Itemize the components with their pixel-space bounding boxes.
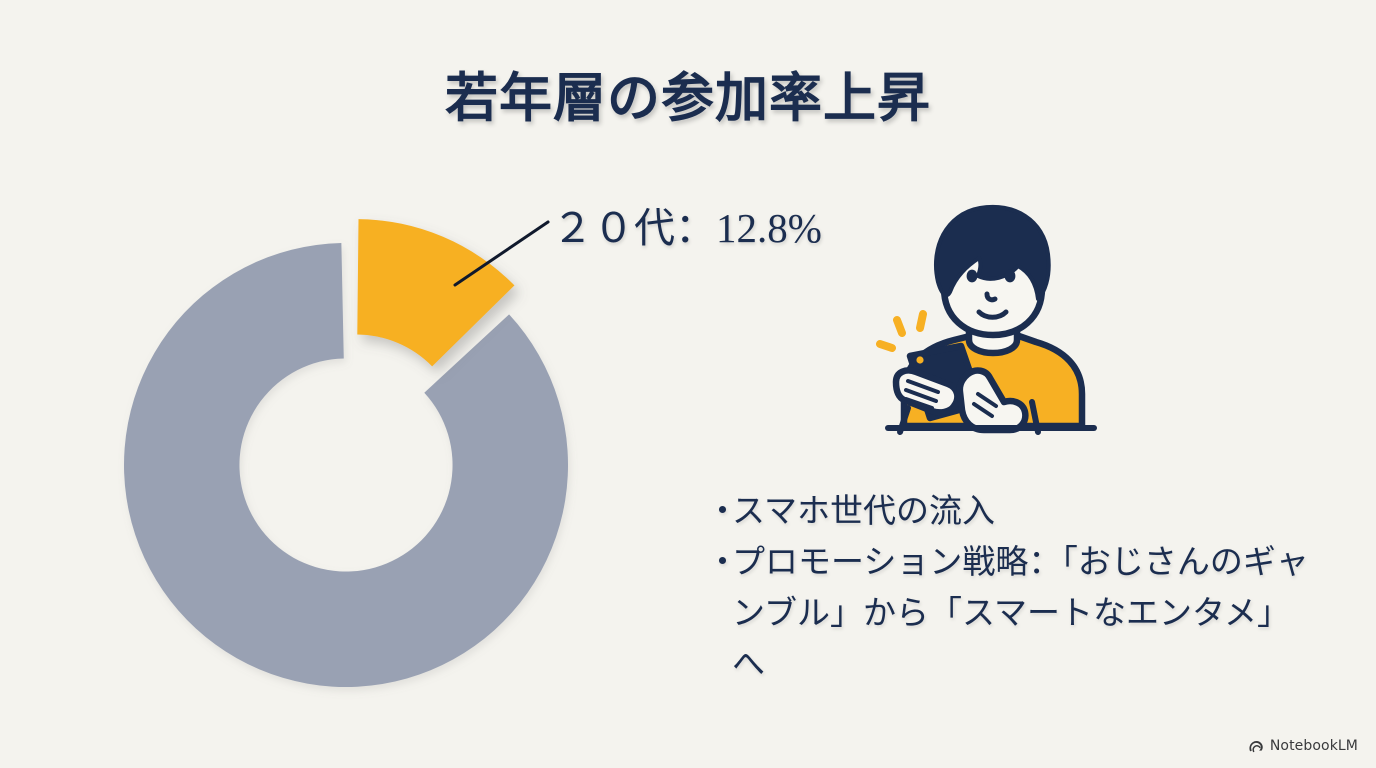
list-item: ・ プロモーション戦略：「おじさんのギャンブル」から「スマートなエンタメ」へ (706, 538, 1316, 691)
watermark-label: NotebookLM (1270, 738, 1358, 754)
phone-camera-icon (916, 356, 923, 363)
person-using-smartphone-illustration (868, 196, 1118, 446)
left-eye-icon (967, 270, 978, 283)
bullet-marker: ・ (706, 487, 732, 538)
bullet-text: スマホ世代の流入 (732, 487, 1316, 538)
bullet-text: プロモーション戦略：「おじさんのギャンブル」から「スマートなエンタメ」へ (732, 538, 1316, 691)
donut-slice-other (124, 243, 568, 687)
slide-root: 若年層の参加率上昇 ２０代：12.8% (0, 0, 1376, 768)
bullet-marker: ・ (706, 538, 732, 589)
notebooklm-watermark: NotebookLM (1248, 738, 1358, 754)
sparkle-icon (880, 314, 923, 348)
person-illustration-svg (868, 196, 1118, 446)
bullet-list: ・ スマホ世代の流入 ・ プロモーション戦略：「おじさんのギャンブル」から「スマ… (706, 487, 1316, 691)
list-item: ・ スマホ世代の流入 (706, 487, 1316, 538)
callout-label: ２０代：12.8% (552, 194, 822, 254)
right-eye-icon (1005, 270, 1016, 283)
notebooklm-spiral-icon (1248, 739, 1265, 754)
page-title: 若年層の参加率上昇 (0, 56, 1376, 132)
